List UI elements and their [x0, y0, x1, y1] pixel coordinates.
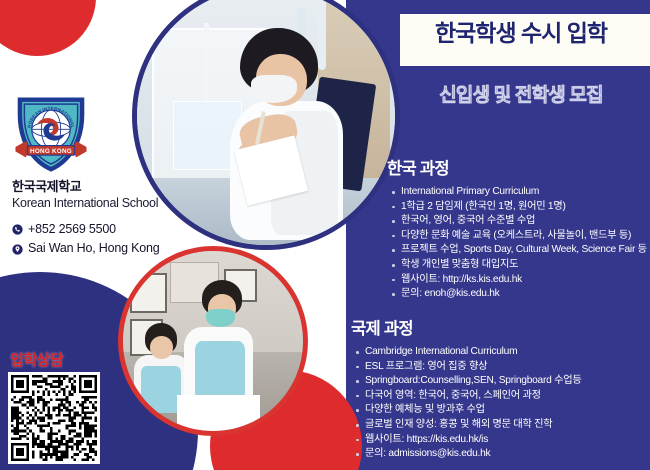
list-item: 학생 개인별 맞춤형 대입지도	[387, 258, 649, 273]
list-item-website[interactable]: 웹사이트: https://kis.edu.hk/is	[339, 433, 649, 448]
svg-text:HONG KONG: HONG KONG	[30, 148, 72, 155]
phone-icon	[12, 224, 23, 235]
program-list-international: Cambridge International Curriculum ESL 프…	[339, 345, 649, 462]
program-section-korean: 한국 과정 International Primary Curriculum 1…	[387, 155, 649, 302]
contact-phone-text: +852 2569 5500	[28, 220, 116, 239]
list-item-email[interactable]: 문의: admissions@kis.edu.hk	[339, 447, 649, 462]
red-circle-decoration-top	[0, 0, 96, 56]
list-item: ESL 프로그램: 영어 집중 향상	[339, 360, 649, 375]
list-item: 1학급 2 담임제 (한국인 1명, 원어민 1명)	[387, 200, 649, 215]
page-title: 한국학생 수시 입학	[400, 22, 642, 45]
program-heading-korean: 한국 과정	[387, 155, 649, 179]
qr-code[interactable]	[8, 372, 100, 464]
list-item-website[interactable]: 웹사이트: http://ks.kis.edu.hk	[387, 273, 649, 288]
qr-code-graphic	[11, 375, 97, 461]
contact-phone-row[interactable]: +852 2569 5500	[12, 220, 227, 239]
art-class-students-photo	[118, 246, 308, 436]
list-item: 다양한 문화 예술 교육 (오케스트라, 사물놀이, 밴드부 등)	[387, 229, 649, 244]
list-item: 다국어 영역: 한국어, 중국어, 스페인어 과정	[339, 389, 649, 404]
school-name-block: 한국국제학교 Korean International School	[12, 180, 212, 211]
list-item: International Primary Curriculum	[387, 185, 649, 200]
list-item: Springboard:Counselling,SEN, Springboard…	[339, 374, 649, 389]
list-item-email[interactable]: 문의: enoh@kis.edu.hk	[387, 287, 649, 302]
admissions-poster: HONG KONG KOREAN INTERNATIONAL SCHOOL 한국…	[0, 0, 650, 470]
program-section-international: 국제 과정 Cambridge International Curriculum…	[339, 315, 649, 462]
school-name-english: Korean International School	[12, 196, 212, 211]
contact-location-text: Sai Wan Ho, Hong Kong	[28, 239, 160, 258]
contact-block: +852 2569 5500 Sai Wan Ho, Hong Kong	[12, 220, 227, 259]
school-name-korean: 한국국제학교	[12, 180, 212, 195]
list-item: 다양한 예체능 및 방과후 수업	[339, 403, 649, 418]
list-item: 한국어, 영어, 중국어 수준별 수업	[387, 214, 649, 229]
list-item: Cambridge International Curriculum	[339, 345, 649, 360]
science-lab-student-photo	[132, 0, 400, 250]
school-crest-logo: HONG KONG KOREAN INTERNATIONAL SCHOOL	[14, 92, 88, 174]
contact-location-row[interactable]: Sai Wan Ho, Hong Kong	[12, 239, 227, 258]
list-item: 글로벌 인재 양성: 홍콩 및 해외 명문 대학 진학	[339, 418, 649, 433]
location-pin-icon	[12, 244, 23, 255]
qr-label: 입학상담	[10, 349, 63, 370]
program-heading-international: 국제 과정	[351, 315, 649, 339]
list-item: 프로젝트 수업, Sports Day, Cultural Week, Scie…	[387, 243, 649, 258]
page-subtitle: 신입생 및 전학생 모집	[400, 86, 642, 105]
program-list-korean: International Primary Curriculum 1학급 2 담…	[387, 185, 649, 302]
